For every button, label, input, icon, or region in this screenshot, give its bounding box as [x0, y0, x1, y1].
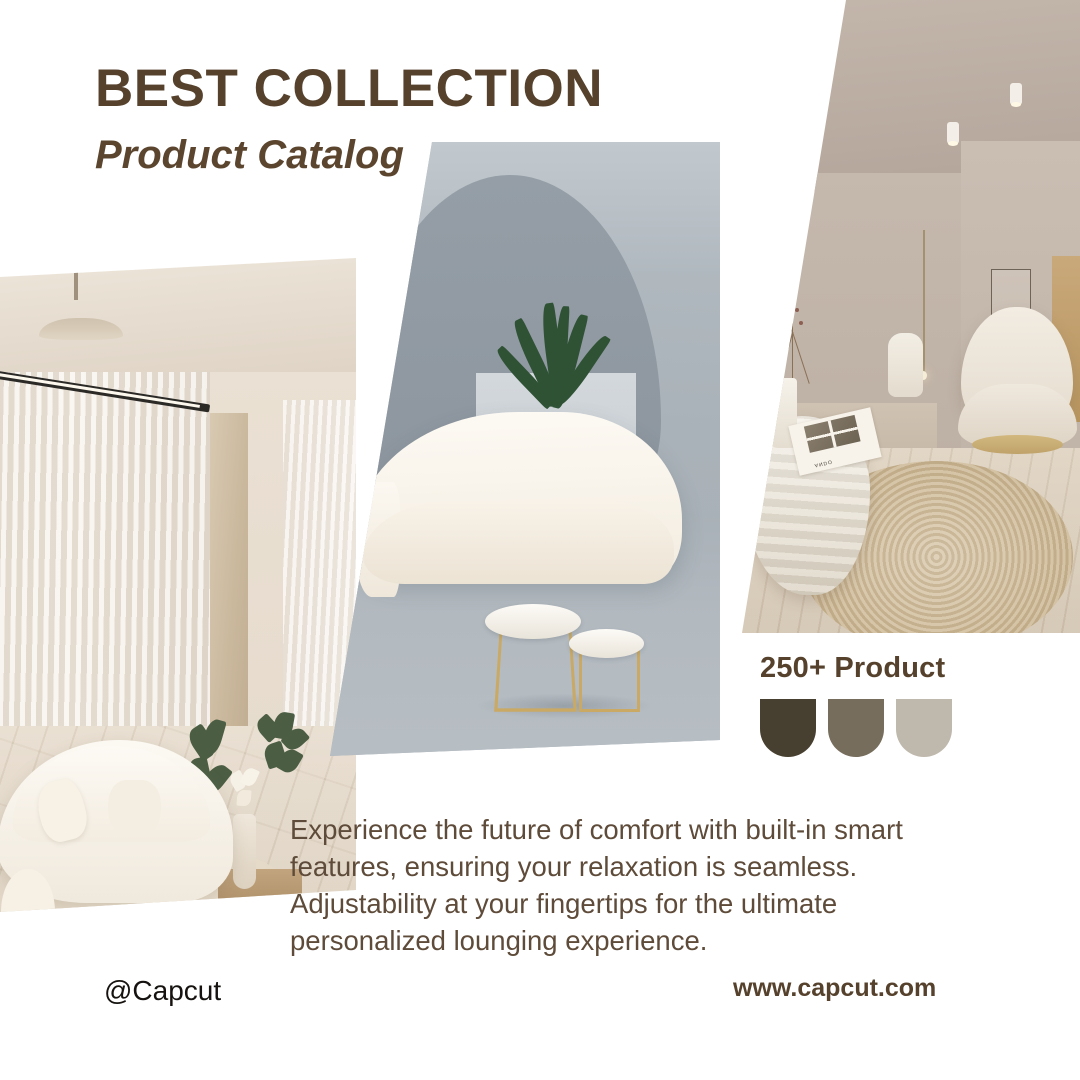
studio-scene: [300, 130, 720, 770]
floor-vase: [233, 814, 256, 889]
potted-shrub: [256, 712, 309, 814]
product-count-block: 250+ Product: [760, 652, 952, 757]
pendant-cord: [74, 270, 78, 300]
sofa-seat: [363, 501, 674, 584]
concrete-column: [210, 413, 248, 767]
description-paragraph: Experience the future of comfort with bu…: [290, 812, 960, 959]
side-table-legs: [579, 648, 640, 712]
spotlight-2: [1010, 83, 1022, 105]
bedroom-scene: ANDO: [730, 0, 1080, 640]
sheer-curtain: [0, 372, 210, 753]
small-side-stool: [888, 333, 923, 397]
marble-side-table: [569, 629, 645, 658]
coffee-table-legs: [495, 632, 578, 712]
pendant-cord: [923, 230, 925, 377]
ceiling: [0, 250, 370, 386]
throw-pillow-2: [108, 780, 161, 834]
marble-coffee-table: [485, 604, 582, 639]
bedroom-photo: ANDO: [730, 0, 1080, 640]
website-url[interactable]: www.capcut.com: [733, 974, 936, 1003]
header-block: BEST COLLECTION Product Catalog: [95, 62, 603, 175]
book-title: ANDO: [814, 458, 833, 468]
poster-canvas: BEST COLLECTION Product Catalog: [0, 0, 1080, 1080]
page-title: BEST COLLECTION: [95, 62, 603, 115]
color-swatch-row: [760, 699, 952, 757]
product-count-label: 250+ Product: [760, 652, 952, 685]
book-cover-image: [804, 415, 861, 453]
swatch-light-beige[interactable]: [896, 699, 952, 757]
social-handle: @Capcut: [104, 975, 221, 1007]
swatch-dark-olive[interactable]: [760, 699, 816, 757]
page-subtitle: Product Catalog: [95, 135, 603, 175]
studio-sofa-photo: [300, 130, 720, 770]
dried-branch: [772, 301, 814, 391]
spotlight-1: [947, 122, 959, 144]
swatch-taupe[interactable]: [828, 699, 884, 757]
boucle-ottoman: [730, 333, 783, 435]
